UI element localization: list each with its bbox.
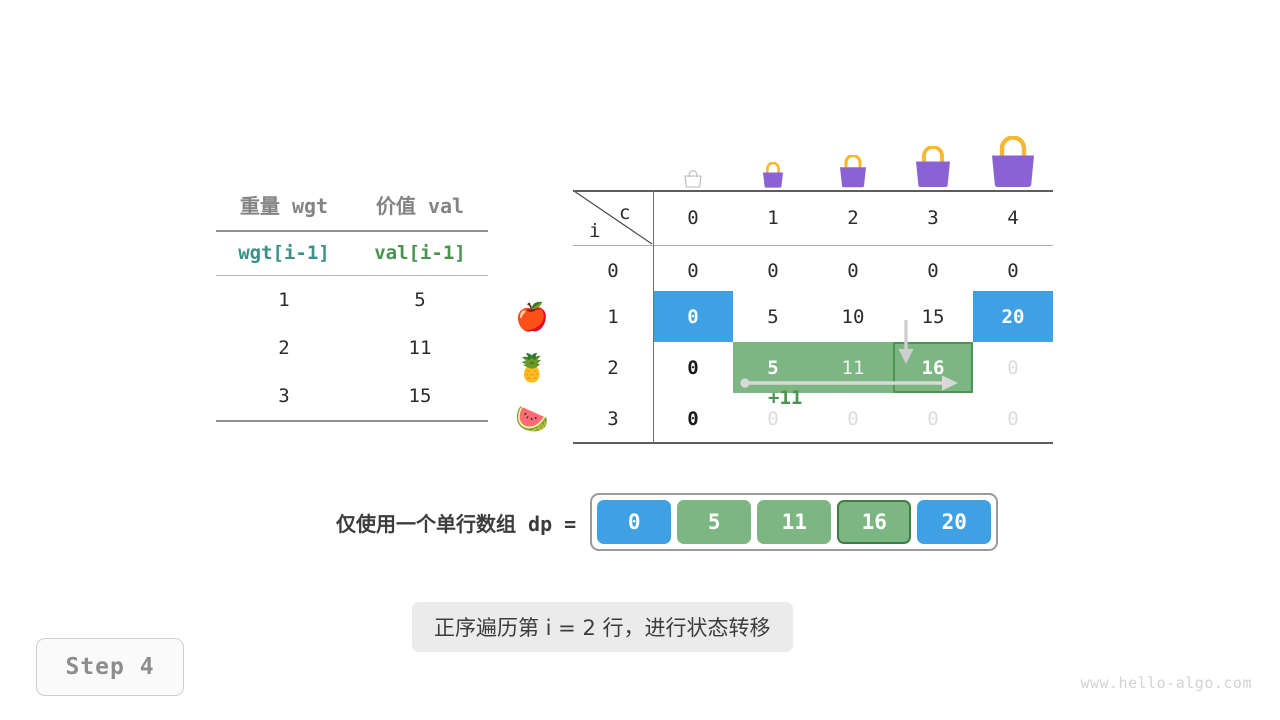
bag-capacity-3-icon (893, 146, 973, 188)
matrix-cell-3-0: 0 (653, 393, 733, 444)
matrix-cell-2-2: 11 (813, 342, 893, 393)
matrix-row-axis-label: i (589, 220, 600, 242)
dp-array-section: 仅使用一个单行数组 dp = 0 5 11 16 20 (336, 496, 998, 548)
matrix-cell-1-0: 0 (653, 291, 733, 342)
matrix-col-header-4: 4 (973, 190, 1053, 245)
matrix-row-header-0: 0 (573, 245, 653, 296)
caption-banner: 正序遍历第 i = 2 行，进行状态转移 (412, 602, 793, 652)
bag-capacity-2-icon (813, 155, 893, 188)
dp-cell-1[interactable]: 5 (677, 500, 751, 544)
dp-cell-2[interactable]: 11 (757, 500, 831, 544)
item-table: 重量 wgt 价值 val wgt[i-1] val[i-1] 1 5 2 11… (216, 190, 488, 422)
matrix-rule-top (573, 190, 1053, 192)
matrix-cell-3-2: 0 (813, 393, 893, 444)
bag-icon-row (653, 126, 1053, 188)
cell-wgt: 1 (216, 289, 352, 311)
cell-val: 5 (352, 289, 488, 311)
matrix-row-header-2: 2 (573, 342, 653, 393)
matrix-row-header-3: 3 (573, 393, 653, 444)
pineapple-icon: 🍍 (508, 343, 556, 394)
dp-cell-3[interactable]: 16 (837, 500, 911, 544)
matrix-cell-2-1: 5 (733, 342, 813, 393)
dp-array-container: 0 5 11 16 20 (590, 493, 998, 551)
dp-array-label: 仅使用一个单行数组 dp = (336, 508, 576, 537)
matrix-rule-bottom (573, 442, 1053, 444)
matrix-vertical-divider (653, 190, 654, 444)
watermelon-icon: 🍉 (508, 394, 556, 445)
matrix-cell-2-4: 0 (973, 342, 1053, 393)
matrix-cell-1-1: 5 (733, 291, 813, 342)
bag-capacity-0-icon (653, 168, 733, 188)
matrix-cell-0-1: 0 (733, 245, 813, 296)
matrix-corner-cell: c i (573, 190, 653, 245)
matrix-cell-3-3: 0 (893, 393, 973, 444)
matrix-col-header-3: 3 (893, 190, 973, 245)
matrix-cell-3-1: 0 (733, 393, 813, 444)
matrix-cell-1-4: 20 (973, 291, 1053, 342)
table-rule-bottom (216, 420, 488, 422)
watermark: www.hello-algo.com (1080, 674, 1252, 692)
matrix-col-header-2: 2 (813, 190, 893, 245)
matrix-cell-0-2: 0 (813, 245, 893, 296)
item-icon-column: 🍎 🍍 🍉 (508, 292, 556, 445)
matrix-cell-2-3: 16 (893, 342, 973, 393)
matrix-col-header-0: 0 (653, 190, 733, 245)
cell-val: 15 (352, 385, 488, 407)
matrix-cell-0-3: 0 (893, 245, 973, 296)
matrix-rule-header (573, 245, 1053, 246)
subheader-wgt-expr: wgt[i-1] (216, 242, 352, 264)
matrix-cell-1-2: 10 (813, 291, 893, 342)
header-weight: 重量 wgt (216, 190, 352, 219)
apple-icon: 🍎 (508, 292, 556, 343)
cell-wgt: 3 (216, 385, 352, 407)
dp-cell-0[interactable]: 0 (597, 500, 671, 544)
bag-capacity-4-icon (973, 136, 1053, 188)
matrix-col-header-1: 1 (733, 190, 813, 245)
matrix-cell-3-4: 0 (973, 393, 1053, 444)
dp-matrix: +11 c i 0 1 2 3 4 0 0 0 0 0 0 1 0 5 10 1… (573, 190, 1053, 444)
matrix-cell-0-4: 0 (973, 245, 1053, 296)
header-value: 价值 val (352, 190, 488, 219)
matrix-cell-1-3: 15 (893, 291, 973, 342)
matrix-cell-0-0: 0 (653, 245, 733, 296)
diagonal-divider-icon (573, 190, 653, 245)
matrix-col-axis-label: c (619, 202, 630, 224)
bag-capacity-1-icon (733, 162, 813, 188)
item-table-subheader-row: wgt[i-1] val[i-1] (216, 232, 488, 275)
cell-wgt: 2 (216, 337, 352, 359)
step-badge: Step 4 (36, 638, 184, 696)
cell-val: 11 (352, 337, 488, 359)
matrix-cell-2-0: 0 (653, 342, 733, 393)
table-row: 1 5 (216, 276, 488, 324)
item-table-header-row: 重量 wgt 价值 val (216, 190, 488, 230)
matrix-row-header-1: 1 (573, 291, 653, 342)
table-row: 3 15 (216, 372, 488, 420)
dp-cell-4[interactable]: 20 (917, 500, 991, 544)
subheader-val-expr: val[i-1] (352, 242, 488, 264)
table-row: 2 11 (216, 324, 488, 372)
